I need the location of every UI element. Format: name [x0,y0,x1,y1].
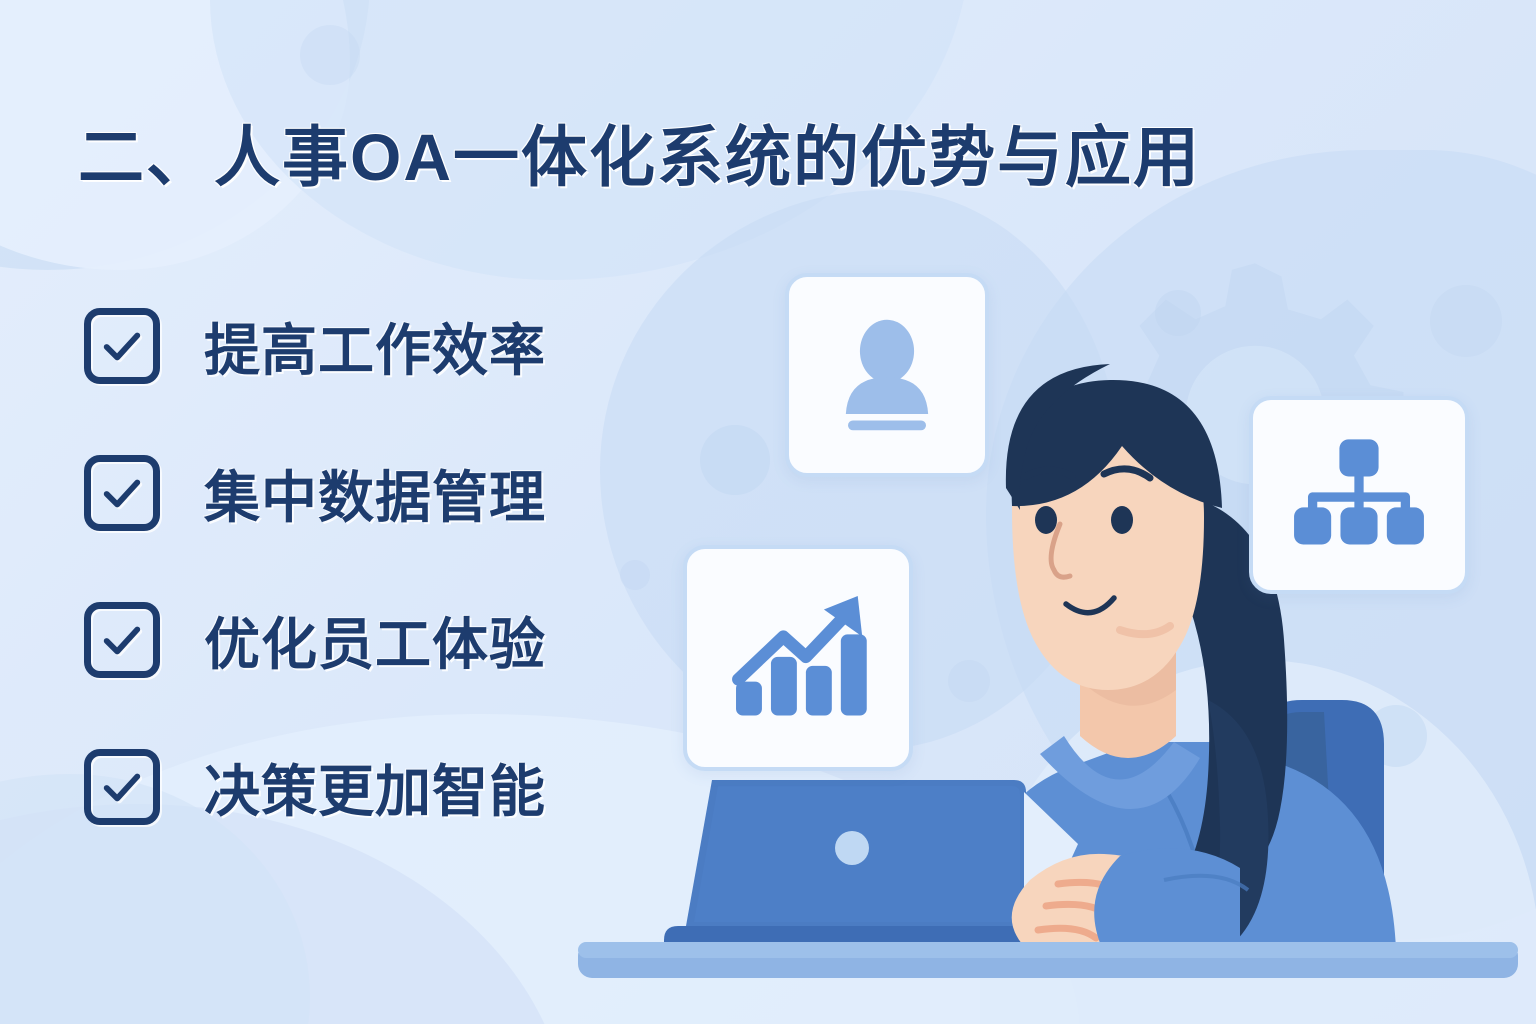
decorative-dot [300,25,360,85]
checkbox-checked-icon[interactable] [84,602,160,678]
growth-chart-card[interactable] [683,545,913,771]
list-item[interactable]: 集中数据管理 [84,447,546,539]
list-item-label: 决策更加智能 [204,747,546,828]
checkbox-checked-icon[interactable] [84,308,160,384]
desk [578,942,1518,978]
person-id-card-icon [822,310,952,440]
slide-canvas: 二、人事OA一体化系统的优势与应用 提高工作效率 集中数据管理 [0,0,1536,1024]
person-forearm [1094,848,1240,948]
list-item-label: 集中数据管理 [204,453,546,534]
person-eye-right [1111,506,1133,534]
checkbox-checked-icon[interactable] [84,455,160,531]
list-item[interactable]: 决策更加智能 [84,741,546,833]
list-item-label: 优化员工体验 [204,600,546,681]
list-item-label: 提高工作效率 [204,306,546,387]
list-item[interactable]: 提高工作效率 [84,300,546,392]
employee-profile-card[interactable] [785,273,989,477]
person-eye-left [1035,506,1057,534]
checkbox-checked-icon[interactable] [84,749,160,825]
bar-chart-growth-icon [724,587,872,729]
org-chart-card[interactable] [1249,396,1469,594]
laptop-logo [835,831,869,865]
list-item[interactable]: 优化员工体验 [84,594,546,686]
benefits-checklist: 提高工作效率 集中数据管理 优化员工体验 [84,300,546,888]
org-hierarchy-icon [1292,437,1426,553]
